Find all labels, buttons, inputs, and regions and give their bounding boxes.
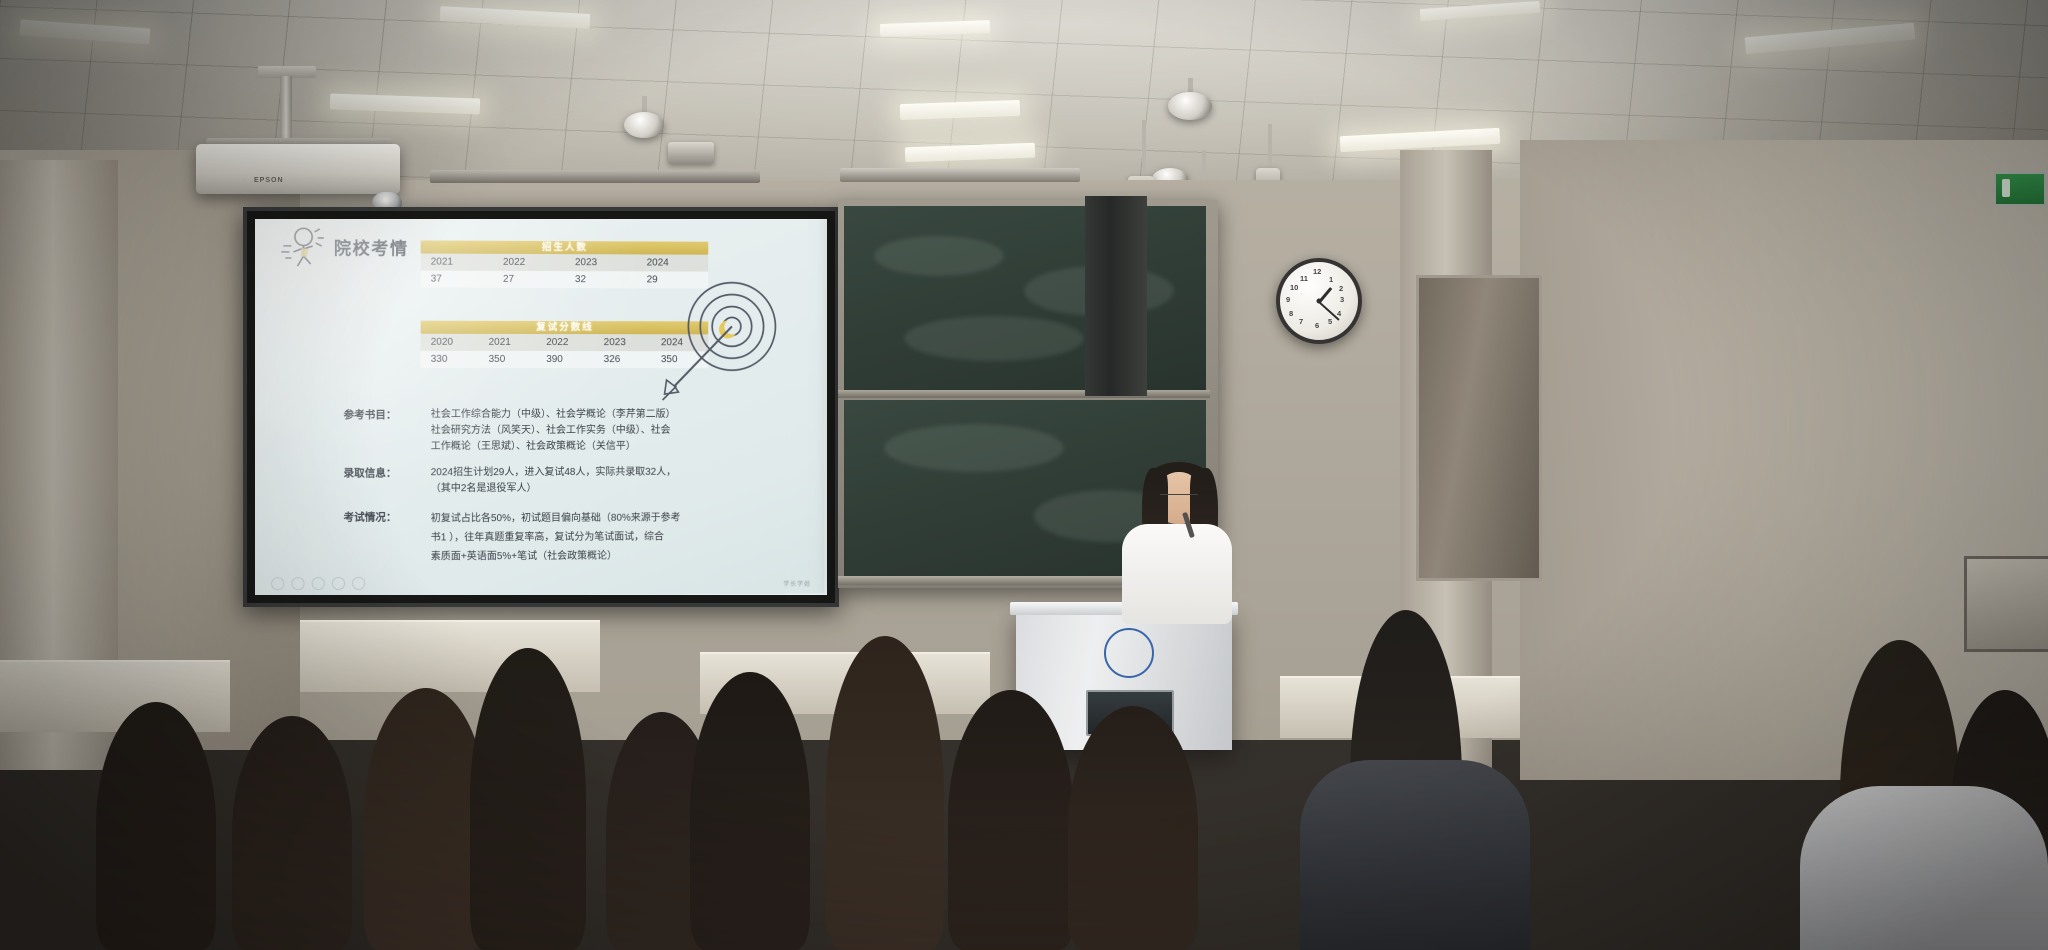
info-line: 初复试占比各50%，初试题目偏向基础（80%来源于参考 <box>431 509 681 529</box>
chalk-smudge <box>904 316 1084 361</box>
ceiling-camera-dome-1 <box>624 112 664 138</box>
footer-dot-icon <box>332 577 345 590</box>
audience-head <box>826 636 944 950</box>
clock-number: 1 <box>1329 275 1333 284</box>
lecture-hall-photo: EPSON 院校考情 招生人数 <box>0 0 2048 950</box>
info-line: 社会工作综合能力（中级）、社会学概论（李芹第二版） <box>431 407 676 423</box>
value-cell: 330 <box>421 351 479 368</box>
year-cell: 2021 <box>421 253 493 270</box>
projection-screen: 院校考情 招生人数 2021 2022 2023 2024 37 27 32 2… <box>243 207 839 607</box>
info-line: 2024招生计划29人，进入复试48人，实际共录取32人， <box>431 465 676 481</box>
clock-number: 9 <box>1286 295 1290 304</box>
clock-number: 12 <box>1313 267 1321 276</box>
clock-number: 2 <box>1339 284 1343 293</box>
value-cell: 32 <box>565 271 637 288</box>
info-value-books: 社会工作综合能力（中级）、社会学概论（李芹第二版） 社会研究方法（风笑天）、社会… <box>396 407 675 455</box>
projector: EPSON <box>196 144 400 194</box>
clock-number: 6 <box>1315 321 1319 330</box>
projector-brand-label: EPSON <box>254 177 284 184</box>
projector-arm <box>280 76 292 146</box>
year-cell: 2023 <box>594 334 651 351</box>
exit-running-man-icon <box>2002 179 2010 197</box>
ceiling-camera-dome-2 <box>1168 92 1212 120</box>
speaker-pole-1 <box>1142 120 1146 182</box>
audience-shoulders <box>1800 786 2048 950</box>
info-line: 素质面+英语面5%+笔试（社会政策概论） <box>431 546 681 566</box>
value-cell: 27 <box>493 271 565 288</box>
info-row-exam: 考试情况： 初复试占比各50%，初试题目偏向基础（80%来源于参考 书1 ），往… <box>291 508 801 567</box>
audience-head <box>232 716 352 950</box>
university-emblem <box>1104 628 1154 678</box>
slide-footer-dots <box>271 577 365 591</box>
clock-number: 8 <box>1289 309 1293 318</box>
info-label-books: 参考书目： <box>291 407 396 455</box>
blackboard-middle-rail <box>838 390 1210 398</box>
ceiling-track-left <box>430 170 760 183</box>
audience-head <box>690 672 810 950</box>
screen-surface: 院校考情 招生人数 2021 2022 2023 2024 37 27 32 2… <box>255 219 827 595</box>
clock-center-pin <box>1317 299 1322 304</box>
value-cell: 350 <box>479 351 537 368</box>
value-cell: 326 <box>594 351 651 368</box>
table-row-years-admissions: 2021 2022 2023 2024 <box>421 253 709 271</box>
slide-info-block: 参考书目： 社会工作综合能力（中级）、社会学概论（李芹第二版） 社会研究方法（风… <box>291 407 801 577</box>
info-line: 书1 ），往年真题重复率高，复试分为笔试面试，综合 <box>431 528 681 548</box>
presenter-glasses <box>1160 494 1198 504</box>
slide-footer-brand: 学长学姐 <box>783 579 811 588</box>
info-line: （其中2名是退役军人） <box>431 481 676 498</box>
info-label-exam: 考试情况： <box>291 509 396 567</box>
year-cell: 2020 <box>421 334 479 351</box>
right-wall <box>1520 140 2048 780</box>
slide-title: 院校考情 <box>334 234 409 259</box>
table-header-admissions: 招生人数 <box>421 240 709 254</box>
presenter-body <box>1122 524 1232 624</box>
info-value-admission: 2024招生计划29人，进入复试48人，实际共录取32人， （其中2名是退役军人… <box>396 465 676 498</box>
running-person-icon <box>279 226 330 270</box>
blackboard-upper <box>844 206 1206 392</box>
chalk-smudge <box>884 424 1064 472</box>
audience-head <box>948 690 1074 950</box>
student-desk-front <box>0 660 230 732</box>
value-cell: 390 <box>536 351 594 368</box>
wall-frame <box>1964 556 2048 652</box>
year-cell: 2024 <box>637 254 708 271</box>
clock-number: 11 <box>1300 274 1308 283</box>
clock-number: 7 <box>1299 317 1303 326</box>
info-line: 社会研究方法（风笑天）、社会工作实务（中级）、社会 <box>431 423 676 439</box>
year-cell: 2022 <box>536 334 594 351</box>
clock-number: 5 <box>1328 317 1332 326</box>
exit-sign <box>1994 172 2046 206</box>
footer-dot-icon <box>312 577 325 590</box>
wall-clock: 12 3 6 9 1 2 4 5 7 8 10 11 <box>1276 258 1362 344</box>
info-label-admission: 录取信息： <box>291 465 396 497</box>
info-row-books: 参考书目： 社会工作综合能力（中级）、社会学概论（李芹第二版） 社会研究方法（风… <box>291 407 801 455</box>
value-cell: 37 <box>421 271 493 288</box>
info-value-exam: 初复试占比各50%，初试题目偏向基础（80%来源于参考 书1 ），往年真题重复率… <box>396 509 680 567</box>
clock-number: 10 <box>1290 283 1298 292</box>
footer-dot-icon <box>291 577 304 590</box>
archery-target-icon <box>655 274 784 409</box>
footer-dot-icon <box>352 577 365 590</box>
year-cell: 2023 <box>565 254 637 271</box>
info-row-admission: 录取信息： 2024招生计划29人，进入复试48人，实际共录取32人， （其中2… <box>291 465 801 498</box>
audience-head <box>1068 706 1198 950</box>
audience-head <box>96 702 216 950</box>
clock-number: 3 <box>1340 295 1344 304</box>
year-cell: 2021 <box>479 334 537 351</box>
dark-curtain-panel <box>1085 196 1147 396</box>
side-door[interactable] <box>1416 275 1542 581</box>
audience-head <box>470 648 586 950</box>
presentation-slide: 院校考情 招生人数 2021 2022 2023 2024 37 27 32 2… <box>255 219 825 595</box>
audience-shoulders <box>1300 760 1530 950</box>
footer-dot-icon <box>271 577 284 590</box>
ceiling-speaker-1 <box>668 142 714 164</box>
ceiling-track-right <box>840 168 1080 182</box>
chalk-smudge <box>874 236 1004 276</box>
info-line: 工作概论（王思斌）、社会政策概论（关信平） <box>431 439 676 455</box>
year-cell: 2022 <box>493 254 565 271</box>
